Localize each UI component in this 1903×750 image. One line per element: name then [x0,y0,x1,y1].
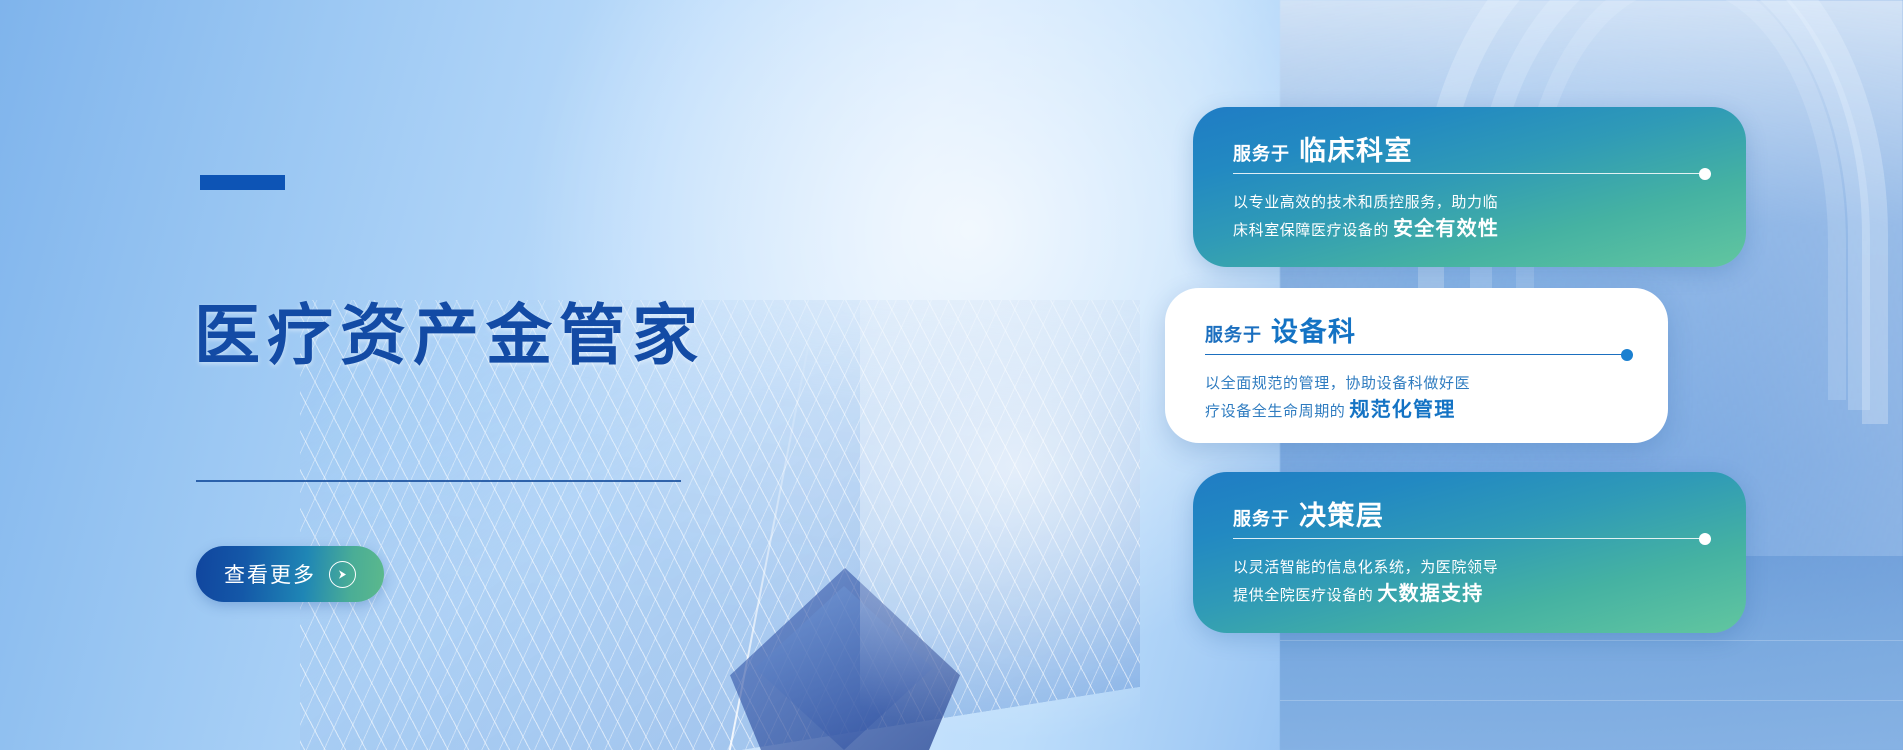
card-prefix: 服务于 [1233,505,1290,531]
card-prefix: 服务于 [1205,321,1262,347]
card-desc-lead: 提供全院医疗设备的 [1233,587,1373,604]
service-card-list: 服务于 临床科室 以专业高效的技术和质控服务，助力临 床科室保障医疗设备的安全有… [0,0,1903,750]
card-rule [1205,354,1628,355]
card-desc-line-2: 床科室保障医疗设备的安全有效性 [1233,216,1712,244]
card-rule [1233,173,1706,174]
card-desc-line-1: 以专业高效的技术和质控服务，助力临 [1233,189,1712,216]
card-description: 以专业高效的技术和质控服务，助力临 床科室保障医疗设备的安全有效性 [1233,189,1712,244]
card-desc-line-1: 以全面规范的管理，协助设备科做好医 [1205,370,1634,397]
card-target: 临床科室 [1299,129,1413,168]
card-desc-line-1: 以灵活智能的信息化系统，为医院领导 [1233,554,1712,581]
service-card-clinical[interactable]: 服务于 临床科室 以专业高效的技术和质控服务，助力临 床科室保障医疗设备的安全有… [1193,107,1746,267]
card-rule [1233,538,1706,539]
card-target: 决策层 [1299,494,1385,533]
hero-banner: 医疗资产金管家 查看更多 服务于 临床科室 以专业 [0,0,1903,750]
card-title: 服务于 临床科室 [1233,129,1413,168]
card-title: 服务于 设备科 [1205,310,1357,349]
card-desc-highlight: 规范化管理 [1345,399,1455,421]
card-rule-dot [1699,533,1711,545]
card-prefix: 服务于 [1233,140,1290,166]
card-desc-line-2: 疗设备全生命周期的规范化管理 [1205,397,1634,425]
card-desc-line-2: 提供全院医疗设备的大数据支持 [1233,581,1712,609]
card-desc-highlight: 安全有效性 [1389,218,1499,240]
card-desc-highlight: 大数据支持 [1373,583,1483,605]
card-rule-dot [1621,349,1633,361]
service-card-decision[interactable]: 服务于 决策层 以灵活智能的信息化系统，为医院领导 提供全院医疗设备的大数据支持 [1193,472,1746,633]
card-title: 服务于 决策层 [1233,494,1385,533]
card-rule-dot [1699,168,1711,180]
card-description: 以灵活智能的信息化系统，为医院领导 提供全院医疗设备的大数据支持 [1233,554,1712,609]
card-desc-lead: 床科室保障医疗设备的 [1233,222,1389,239]
card-desc-lead: 疗设备全生命周期的 [1205,403,1345,420]
service-card-equipment[interactable]: 服务于 设备科 以全面规范的管理，协助设备科做好医 疗设备全生命周期的规范化管理 [1165,288,1668,443]
card-target: 设备科 [1271,310,1357,349]
card-description: 以全面规范的管理，协助设备科做好医 疗设备全生命周期的规范化管理 [1205,370,1634,425]
